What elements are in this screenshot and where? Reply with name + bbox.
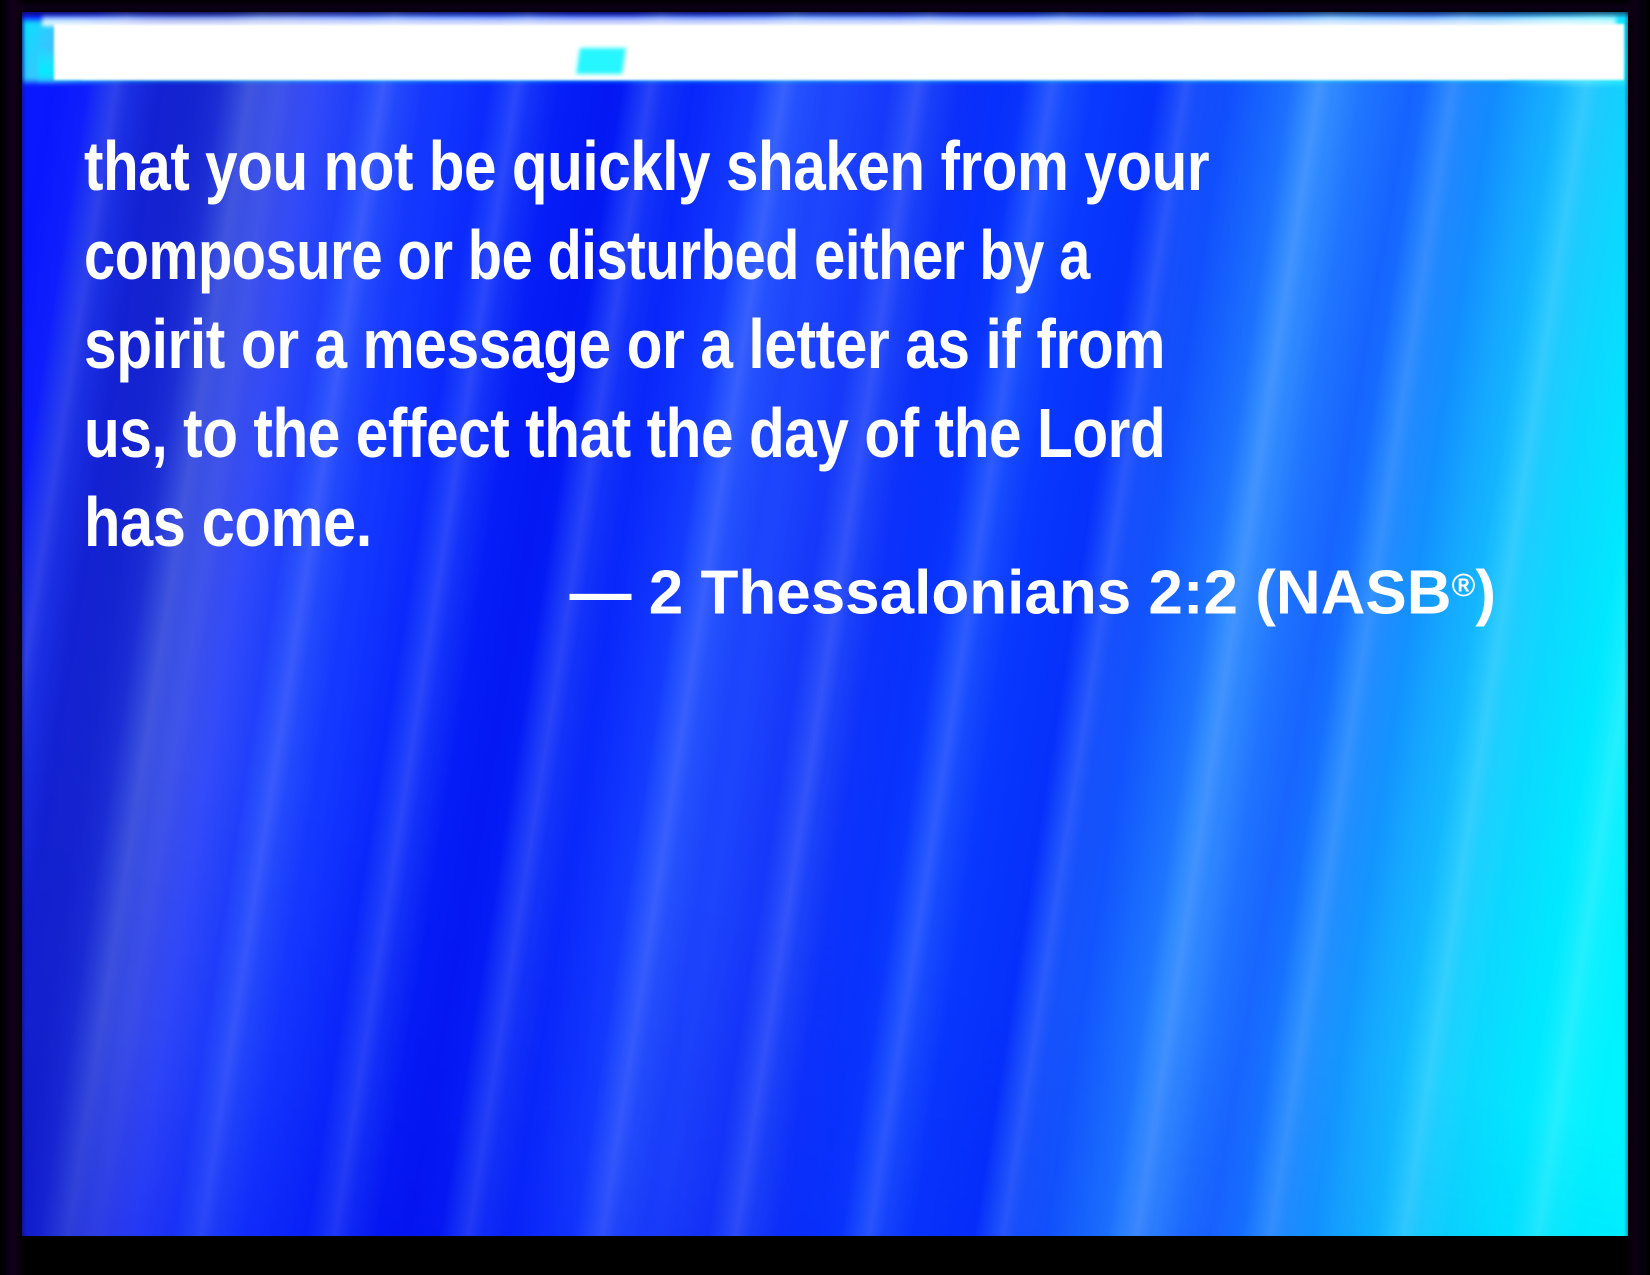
verse-line: composure or be disturbed either by a <box>84 211 1160 300</box>
verse-line: that you not be quickly shaken from your <box>84 122 1206 211</box>
registered-trademark-icon: ® <box>1452 567 1476 603</box>
verse-line: us, to the effect that the day of the Lo… <box>84 389 1208 478</box>
citation-prefix: — 2 Thessalonians 2:2 (NASB <box>570 559 1452 628</box>
verse-slide: that you not be quickly shaken from your… <box>0 0 1650 1275</box>
verse-line: spirit or a message or a letter as if fr… <box>84 300 1211 389</box>
verse-text-block: that you not be quickly shaken from your… <box>84 122 1429 567</box>
citation-suffix: ) <box>1475 559 1496 628</box>
verse-citation: — 2 Thessalonians 2:2 (NASB®) <box>0 548 1496 631</box>
